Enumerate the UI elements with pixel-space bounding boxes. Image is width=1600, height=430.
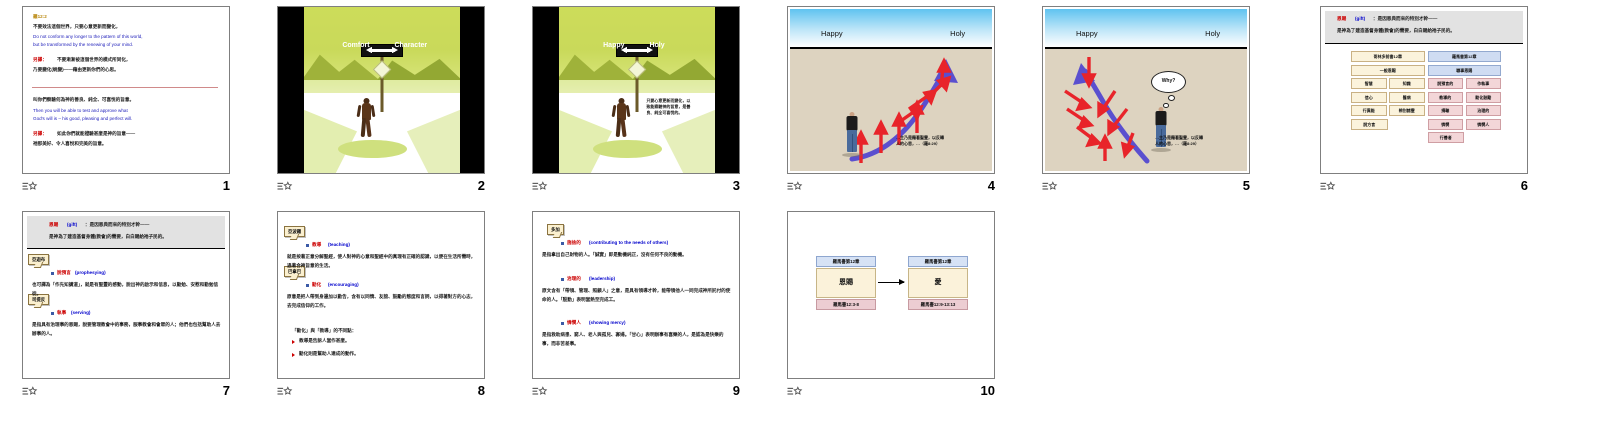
- bullet-icon: [306, 244, 309, 247]
- animation-star-icon[interactable]: [277, 385, 293, 400]
- alt-label-1: 另譯：: [33, 57, 47, 63]
- slide-number-3: 3: [700, 178, 740, 194]
- flow-arrow-icon: [878, 282, 904, 283]
- gift-item-body-2: 原意是把人帶到身邊加以勸告，含有以同情、友誼、鼓勵的態度和言詞，以得著對方的心志…: [287, 292, 477, 310]
- person-figure: [844, 112, 860, 156]
- slide-4-content: Happy Holy: [788, 7, 994, 173]
- gift-def-1: ：是因恩典而來的特別才幹——: [85, 222, 149, 228]
- compare-item-2: 勸化則是幫助人達成的動作。: [299, 351, 359, 357]
- table-row: 一般恩賜: [1351, 65, 1425, 76]
- gift-item-en-1: (teaching): [328, 242, 350, 248]
- diagram-node-1-top: 羅馬書第12章: [816, 256, 876, 267]
- table-row: 羅馬書第12章: [1428, 51, 1502, 62]
- animation-star-icon[interactable]: [787, 180, 803, 195]
- gift-item-body-1: 就是按著正意分解聖經，使人對神的心意和聖經中的真理有正確的認識，以便在生活所需時…: [287, 252, 477, 270]
- slide-thumbnail-1[interactable]: 羅12:2 不要效法這個世界，只要心意更新而變化， Do not conform…: [22, 6, 230, 174]
- table-row: 說方言: [1351, 119, 1388, 130]
- gift-item-body-1: 是指拿出自己財物的人。「誠實」即是動機純正，沒有任何不良的動機。: [542, 250, 732, 259]
- slide-number-7: 7: [190, 383, 230, 399]
- gift-item-en-3: (showing mercy): [589, 320, 626, 326]
- slide-number-2: 2: [445, 178, 485, 194]
- slide-thumbnail-7[interactable]: 恩賜 (gift) ：是因恩典而來的特別才幹—— 是神為了建造基督身體(教會)的…: [22, 211, 230, 379]
- slide-3-content: Happy Holy 只要心意更新而變化，以 致能察驗神的旨意，是善 良、純全可…: [533, 7, 739, 173]
- table-row: 行善者: [1428, 132, 1465, 143]
- slide-1-content: 羅12:2 不要效法這個世界，只要心意更新而變化， Do not conform…: [23, 7, 229, 173]
- slide-cell-5[interactable]: Happy Holy: [1020, 0, 1272, 205]
- callout-label-1: 多加: [547, 224, 564, 235]
- gift-item-body-3: 是指救助病患、窮人、老人與孤兒、寡婦。「甘心」表明辦事有喜樂的人，是認為是快樂的…: [542, 330, 732, 348]
- diagram-node-1-bottom: 羅馬書12:3-8: [816, 299, 876, 310]
- bullet-icon: [51, 272, 54, 275]
- slide-4-caption: …主乃是藉著聖靈，以反轉 人的心思，…（羅8:29）: [896, 135, 944, 147]
- table-row: 辨別諸靈: [1389, 105, 1425, 116]
- slide-2-content: Comfort Character: [278, 7, 484, 173]
- diagram-node-1-label: 恩賜: [817, 269, 875, 297]
- slide-meta-9: 9: [532, 383, 740, 405]
- callout-label-1: 亞波羅: [284, 226, 305, 237]
- gift-item-body-2: 原文含有「帶領、管理、照顧人」之意，是具有領導才幹，能帶領他人一同完成神所託付的…: [542, 286, 732, 304]
- table-row: 行異能: [1351, 105, 1387, 116]
- slide-number-1: 1: [190, 178, 230, 194]
- slide-cell-1[interactable]: 羅12:2 不要效法這個世界，只要心意更新而變化， Do not conform…: [0, 0, 252, 205]
- gift-item-body-1: 也可譯為「作先知講道」，就是有聖靈的感動，說出神的啟示和信息，以勸勉、安慰和勸勉…: [32, 280, 222, 298]
- table-row: 教導的: [1428, 92, 1464, 103]
- alt-cn-4: 祂那美好、令人喜悅和完美的旨意。: [33, 141, 107, 147]
- gift-item-en-2: (serving): [71, 310, 90, 316]
- verse2-en-1: Then you will be able to test and approv…: [33, 108, 128, 114]
- table-row: 作執事: [1466, 78, 1502, 89]
- thought-bubble: Why?: [1151, 71, 1186, 93]
- slide-meta-2: 2: [277, 178, 485, 200]
- animation-star-icon[interactable]: [787, 385, 803, 400]
- walking-figure: [613, 98, 630, 173]
- slide-thumbnail-8[interactable]: 亞波羅 巴拿巴 教導 (teaching) 就是按著正意分解聖經，使人對神的心意…: [277, 211, 485, 379]
- verse-en-1: Do not conform any longer to the pattern…: [33, 34, 143, 40]
- table-row: 治理的: [1466, 105, 1502, 116]
- slide-thumbnail-10[interactable]: 羅馬書第12章 恩賜 羅馬書12:3-8 羅馬書第12章 愛 羅馬書12:9-1…: [787, 211, 995, 379]
- scripture-ref: 羅12:2: [33, 14, 47, 20]
- thought-bubble-text: Why?: [1152, 78, 1185, 84]
- gift-item-en-2: (leadership): [589, 276, 615, 282]
- pathway-photo: Comfort Character: [304, 7, 460, 173]
- table-row: 捐輸: [1428, 105, 1464, 116]
- axis-label-right: Holy: [950, 29, 965, 38]
- slide-meta-7: 7: [22, 383, 230, 405]
- gift-item-body-2: 是指具有治理事的恩賜，說要管理教會中的事務，服事教會和會眾的人；他們也包括幫助人…: [32, 320, 222, 338]
- thought-dot-small: [1163, 103, 1169, 108]
- bullet-icon: [561, 278, 564, 281]
- gift-item-title-2: 治理的: [567, 276, 581, 282]
- animation-star-icon[interactable]: [532, 385, 548, 400]
- bullet-icon: [292, 353, 295, 357]
- animation-star-icon[interactable]: [1320, 180, 1336, 195]
- sign-label-left: Comfort: [342, 42, 369, 49]
- slide-number-9: 9: [700, 383, 740, 399]
- bullet-icon: [306, 284, 309, 287]
- slide-10-content: 羅馬書第12章 恩賜 羅馬書12:3-8 羅馬書第12章 愛 羅馬書12:9-1…: [788, 212, 994, 378]
- slide-cell-8[interactable]: 亞波羅 巴拿巴 教導 (teaching) 就是按著正意分解聖經，使人對神的心意…: [255, 205, 507, 410]
- table-row: 信心: [1351, 92, 1387, 103]
- animation-star-icon[interactable]: [1042, 180, 1058, 195]
- table-row: 哥林多前書12章: [1351, 51, 1425, 62]
- animation-star-icon[interactable]: [22, 385, 38, 400]
- gift-item-en-1: (contributing to the needs of others): [589, 240, 668, 246]
- slide-meta-4: 4: [787, 178, 995, 200]
- axis-label-left: Happy: [1076, 29, 1098, 38]
- slide-cell-10[interactable]: 羅馬書第12章 恩賜 羅馬書12:3-8 羅馬書第12章 愛 羅馬書12:9-1…: [765, 205, 1017, 410]
- diagram-node-1-body: 恩賜: [816, 268, 876, 298]
- gift-item-title-1: 施捨的: [567, 240, 581, 246]
- slide-number-8: 8: [445, 383, 485, 399]
- alt-cn-1: 不要漸漸被這個世界的模式所同化，: [57, 57, 131, 63]
- animation-star-icon[interactable]: [532, 180, 548, 195]
- slide-thumbnail-5[interactable]: Happy Holy: [1042, 6, 1250, 174]
- table-row: 說預言的: [1428, 78, 1464, 89]
- table-row: 憐憫: [1428, 119, 1464, 130]
- axis-label-left: Happy: [821, 29, 843, 38]
- diagram-node-2-label: 愛: [909, 269, 967, 297]
- resistance-arrows: [843, 53, 983, 169]
- table-column-left: 哥林多前書12章 一般恩賜 智慧 知識 信心 醫病 行異能: [1351, 51, 1425, 143]
- sign-label-left: Happy: [603, 42, 624, 49]
- slide-3-note: 只要心意更新而變化，以 致能察驗神的旨意，是善 良、純全可喜悅的。: [646, 98, 690, 116]
- diagram-node-2-bottom: 羅馬書12:9-13:13: [908, 299, 968, 310]
- slide-cell-7[interactable]: 恩賜 (gift) ：是因恩典而來的特別才幹—— 是神為了建造基督身體(教會)的…: [0, 205, 252, 410]
- walking-figure: [358, 98, 375, 173]
- slide-cell-4[interactable]: Happy Holy: [765, 0, 1017, 205]
- slide-7-content: 恩賜 (gift) ：是因恩典而來的特別才幹—— 是神為了建造基督身體(教會)的…: [23, 212, 229, 378]
- divider: [32, 87, 218, 88]
- pathway-photo: Happy Holy 只要心意更新而變化，以 致能察驗神的旨意，是善 良、純全可…: [559, 7, 715, 173]
- table-row: 勸化鼓勵: [1466, 92, 1502, 103]
- slide-8-content: 亞波羅 巴拿巴 教導 (teaching) 就是按著正意分解聖經，使人對神的心意…: [278, 212, 484, 378]
- slide-sorter-pane[interactable]: 羅12:2 不要效法這個世界，只要心意更新而變化， Do not conform…: [0, 0, 1600, 430]
- diagram-node-2-top: 羅馬書第12章: [908, 256, 968, 267]
- gift-def-2: 是神為了建造基督身體(教會)的需要，白白賜給祂子民的。: [49, 234, 167, 240]
- slide-7-header: 恩賜 (gift) ：是因恩典而來的特別才幹—— 是神為了建造基督身體(教會)的…: [27, 216, 225, 249]
- gift-item-title-2: 執事: [57, 310, 66, 316]
- gift-def-2: 是神為了建造基督身體(教會)的需要，白白賜給祂子民的。: [1337, 28, 1455, 34]
- animation-star-icon[interactable]: [277, 180, 293, 195]
- slide-5-content: Happy Holy: [1043, 7, 1249, 173]
- slide-number-5: 5: [1210, 178, 1250, 194]
- table-row: 職事恩賜: [1428, 65, 1502, 76]
- sky-band: [790, 9, 992, 47]
- sky-band: [1045, 9, 1247, 47]
- gift-item-title-1: 教導: [312, 242, 321, 248]
- gift-item-en-1: (prophesying): [75, 270, 106, 276]
- table-row: 知識: [1389, 78, 1425, 89]
- gift-item-title-1: 說預言: [57, 270, 71, 276]
- verse2-cn-1: 叫你們察驗何為神的善良、純全、可喜悅的旨意。: [33, 97, 134, 103]
- slide-meta-6: 6: [1320, 178, 1528, 200]
- bullet-icon: [561, 242, 564, 245]
- slide-meta-5: 5: [1042, 178, 1250, 200]
- gift-term: 恩賜: [49, 222, 58, 228]
- table-row: 憐憫人: [1466, 119, 1502, 130]
- verse-en-2: but be transformed by the renewing of yo…: [33, 42, 133, 48]
- slide-6-content: 恩賜 (gift) ：是因恩典而來的特別才幹—— 是神為了建造基督身體(教會)的…: [1321, 7, 1527, 173]
- slide-cell-9[interactable]: 多加 施捨的 (contributing to the needs of oth…: [510, 205, 762, 410]
- slide-meta-10: 10: [787, 383, 995, 405]
- slide-number-10: 10: [955, 383, 995, 399]
- sign-label-right: Holy: [649, 42, 664, 49]
- alt-cn-2: 乃要變化(蛻變)——藉由更新你們的心思。: [33, 67, 119, 73]
- gift-def-1: ：是因恩典而來的特別才幹——: [1373, 16, 1437, 22]
- slide-thumbnail-6[interactable]: 恩賜 (gift) ：是因恩典而來的特別才幹—— 是神為了建造基督身體(教會)的…: [1320, 6, 1528, 174]
- callout-label-1: 亞迦布: [28, 254, 49, 265]
- diagram-node-2-body: 愛: [908, 268, 968, 298]
- verse2-en-2: God's will is – his good, pleasing and p…: [33, 116, 132, 122]
- compare-item-1: 教導是告訴人當作甚麼。: [299, 338, 350, 344]
- slide-cell-2[interactable]: Comfort Character 2: [255, 0, 507, 205]
- compare-title: 「勸化」與「教導」的不同點：: [292, 328, 356, 334]
- sign-label-right: Character: [394, 42, 427, 49]
- gifts-table: 哥林多前書12章 一般恩賜 智慧 知識 信心 醫病 行異能: [1351, 51, 1501, 146]
- slide-thumbnail-4[interactable]: Happy Holy: [787, 6, 995, 174]
- slide-5-caption: …主乃是藉著聖靈，以反轉 人的心思，…（羅8:29）: [1155, 135, 1203, 147]
- bullet-icon: [51, 312, 54, 315]
- axis-label-right: Holy: [1205, 29, 1220, 38]
- animation-star-icon[interactable]: [22, 180, 38, 195]
- gift-item-en-2: (encouraging): [328, 282, 359, 288]
- slide-cell-6[interactable]: 恩賜 (gift) ：是因恩典而來的特別才幹—— 是神為了建造基督身體(教會)的…: [1275, 0, 1527, 205]
- slide-number-4: 4: [955, 178, 995, 194]
- gift-term-en: (gift): [1355, 16, 1365, 22]
- gift-item-title-3: 憐憫人: [567, 320, 581, 326]
- table-row: 醫病: [1389, 92, 1425, 103]
- slide-thumbnail-9[interactable]: 多加 施捨的 (contributing to the needs of oth…: [532, 211, 740, 379]
- slide-meta-1: 1: [22, 178, 230, 200]
- slide-thumbnail-3[interactable]: Happy Holy 只要心意更新而變化，以 致能察驗神的旨意，是善 良、純全可…: [532, 6, 740, 174]
- slide-9-content: 多加 施捨的 (contributing to the needs of oth…: [533, 212, 739, 378]
- slide-meta-8: 8: [277, 383, 485, 405]
- slide-cell-3[interactable]: Happy Holy 只要心意更新而變化，以 致能察驗神的旨意，是善 良、純全可…: [510, 0, 762, 205]
- table-row: 智慧: [1351, 78, 1387, 89]
- gift-item-title-2: 勸化: [312, 282, 321, 288]
- alt-cn-3: 如此你們就能證驗甚麼是神的旨意——: [57, 131, 135, 137]
- bullet-icon: [561, 322, 564, 325]
- thought-dot-large: [1168, 95, 1175, 101]
- slide-number-6: 6: [1488, 178, 1528, 194]
- bullet-icon: [292, 340, 295, 344]
- slide-meta-3: 3: [532, 178, 740, 200]
- table-column-right: 羅馬書第12章 職事恩賜 說預言的 作執事 教導的 勸化鼓勵: [1428, 51, 1502, 143]
- alt-label-2: 另譯：: [33, 131, 47, 137]
- gift-term: 恩賜: [1337, 16, 1346, 22]
- verse-cn-1: 不要效法這個世界，只要心意更新而變化，: [33, 24, 120, 30]
- slide-thumbnail-2[interactable]: Comfort Character: [277, 6, 485, 174]
- gift-term-en: (gift): [67, 222, 77, 228]
- slide-6-header: 恩賜 (gift) ：是因恩典而來的特別才幹—— 是神為了建造基督身體(教會)的…: [1325, 11, 1523, 44]
